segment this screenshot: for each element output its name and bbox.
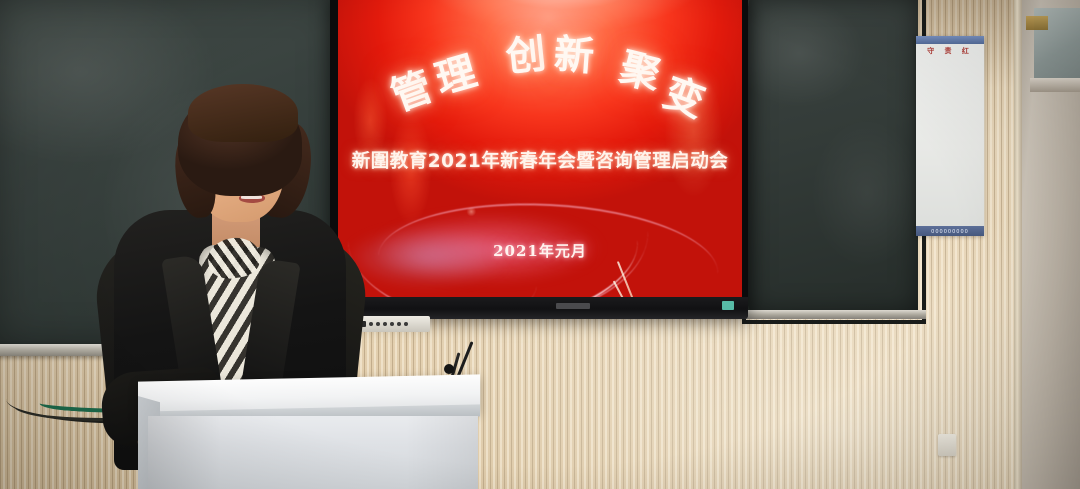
right-chalk-tray: [744, 310, 926, 319]
conference-photo-scene: 管 理 创 新 聚 变 新圍教育2021年新春年会暨咨询管理启动会 2021年元…: [0, 0, 1080, 489]
control-button-1[interactable]: [369, 322, 373, 326]
corner-bracket: [1026, 16, 1048, 30]
corner-shelf: [1030, 78, 1080, 92]
poster-header-band: [916, 36, 984, 44]
headline-char-5: 聚: [616, 48, 664, 96]
control-button-6[interactable]: [404, 322, 408, 326]
control-button-4[interactable]: [390, 322, 394, 326]
podium-shading: [148, 416, 478, 489]
slide-date: 2021年元月: [338, 240, 742, 261]
presentation-display[interactable]: 管 理 创 新 聚 变 新圍教育2021年新春年会暨咨询管理启动会 2021年元…: [338, 0, 742, 297]
poster-title: 守 责 红: [916, 46, 984, 56]
poster-footer-text: 000000000: [916, 229, 984, 235]
headline-char-2: 理: [431, 51, 480, 100]
hair-top: [188, 84, 298, 142]
wall-power-outlet: [938, 434, 956, 456]
slide-subtitle: 新圍教育2021年新春年会暨咨询管理启动会: [338, 147, 742, 173]
headline-char-1: 管: [386, 66, 437, 117]
control-button-5[interactable]: [397, 322, 401, 326]
headline-char-4: 新: [553, 35, 596, 78]
control-button-2[interactable]: [376, 322, 380, 326]
slide-headline: 管 理 创 新 聚 变: [338, 34, 742, 144]
wall-corner-edge: [1014, 0, 1022, 489]
control-button-3[interactable]: [383, 322, 387, 326]
headline-char-3: 创: [504, 34, 548, 78]
microphone-head: [444, 364, 454, 374]
right-chalkboard-frame: [742, 0, 926, 324]
headline-char-6: 变: [658, 72, 709, 123]
display-brand-logo: [556, 303, 590, 309]
speaker-figure: [100, 70, 360, 410]
display-ir-indicator: [722, 301, 734, 310]
wall-poster: 守 责 红 000000000: [916, 36, 984, 236]
